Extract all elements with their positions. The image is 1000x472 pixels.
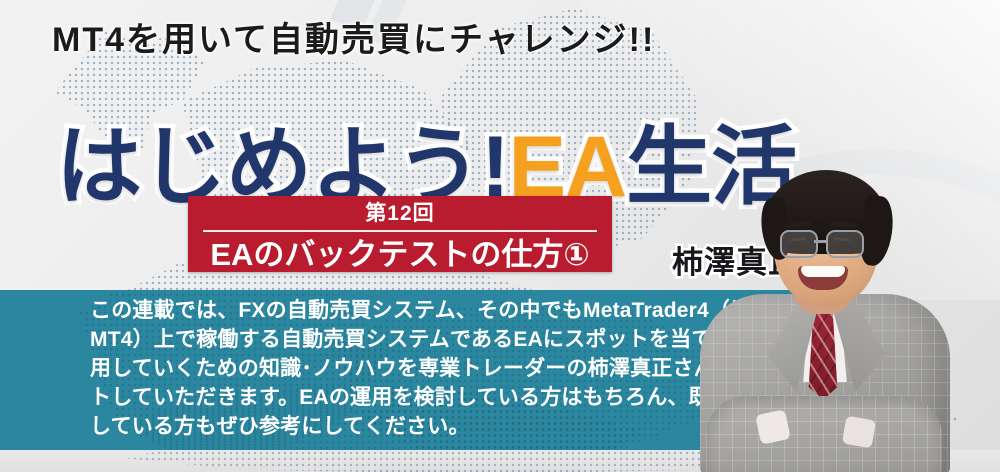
article-header-banner: MT4を用いて自動売買にチャレンジ!! はじめよう!EA生活 第12回 EAのバ… — [0, 0, 1000, 472]
tagline: MT4を用いて自動売買にチャレンジ!! — [52, 12, 655, 61]
description-text: この連載では、FXの自動売買システム、その中でもMetaTrader4（以下 M… — [90, 296, 750, 441]
shirt-cuff-right — [842, 416, 876, 449]
crossed-arms — [706, 396, 942, 472]
shirt-cuff-left — [755, 409, 791, 445]
eyeglasses-lens-left — [780, 230, 818, 258]
episode-divider — [203, 230, 597, 232]
episode-title: EAのバックテストの仕方① — [210, 239, 589, 270]
description-line: MT4）上で稼働する自動売買システムであるEAにスポットを当て、それを運 — [90, 325, 750, 354]
teeth — [801, 266, 845, 277]
episode-banner: 第12回 EAのバックテストの仕方① — [188, 196, 612, 272]
description-line: している方もぜひ参考にしてください。 — [90, 412, 750, 441]
description-line: この連載では、FXの自動売買システム、その中でもMetaTrader4（以下 — [90, 296, 750, 325]
portrait-alt-text: 柿澤真正さんの写真 — [694, 168, 695, 169]
author-portrait-photo: 柿澤真正さんの写真 — [694, 168, 954, 472]
description-line: 用していくための知識･ノウハウを専業トレーダーの柿澤真正さんにナビゲー — [90, 354, 750, 383]
episode-number-label: 第12回 — [365, 203, 434, 224]
description-line: トしていただきます。EAの運用を検討している方はもちろん、既にEAを利用 — [90, 383, 750, 412]
eyeglasses-bridge — [814, 240, 826, 243]
eyeglasses-lens-right — [826, 230, 864, 258]
